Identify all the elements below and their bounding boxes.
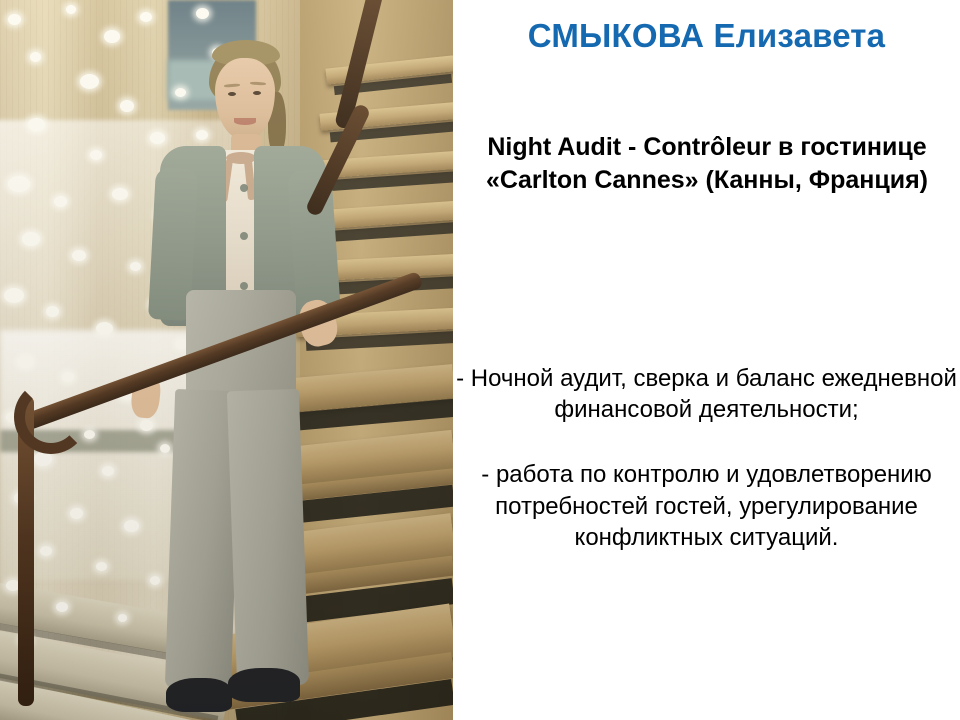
page-title: СМЫКОВА Елизавета bbox=[453, 18, 960, 54]
handrail-elbow bbox=[14, 380, 88, 454]
role-heading: Night Audit - Contrôleur в гостинице «Ca… bbox=[459, 131, 955, 197]
jacket-button bbox=[240, 184, 248, 192]
eye-left bbox=[228, 92, 236, 96]
duties-list: - Ночной аудит, сверка и баланс ежедневн… bbox=[455, 363, 958, 553]
slide: СМЫКОВА Елизавета Night Audit - Contrôle… bbox=[0, 0, 960, 720]
mouth bbox=[234, 118, 256, 125]
eye-right bbox=[253, 91, 261, 95]
portrait-photo bbox=[0, 0, 453, 720]
shoe-right bbox=[228, 668, 300, 702]
jacket-button bbox=[240, 282, 248, 290]
duty-item: - Ночной аудит, сверка и баланс ежедневн… bbox=[455, 363, 958, 425]
duty-item: - работа по контролю и удовлетворению по… bbox=[455, 459, 958, 553]
jacket-button bbox=[240, 232, 248, 240]
text-column: СМЫКОВА Елизавета Night Audit - Contrôle… bbox=[453, 0, 960, 720]
person-figure bbox=[0, 0, 453, 720]
duties-spacer bbox=[455, 425, 958, 459]
trouser-leg-right bbox=[227, 389, 309, 687]
face bbox=[215, 58, 275, 140]
shoe-left bbox=[166, 678, 232, 712]
